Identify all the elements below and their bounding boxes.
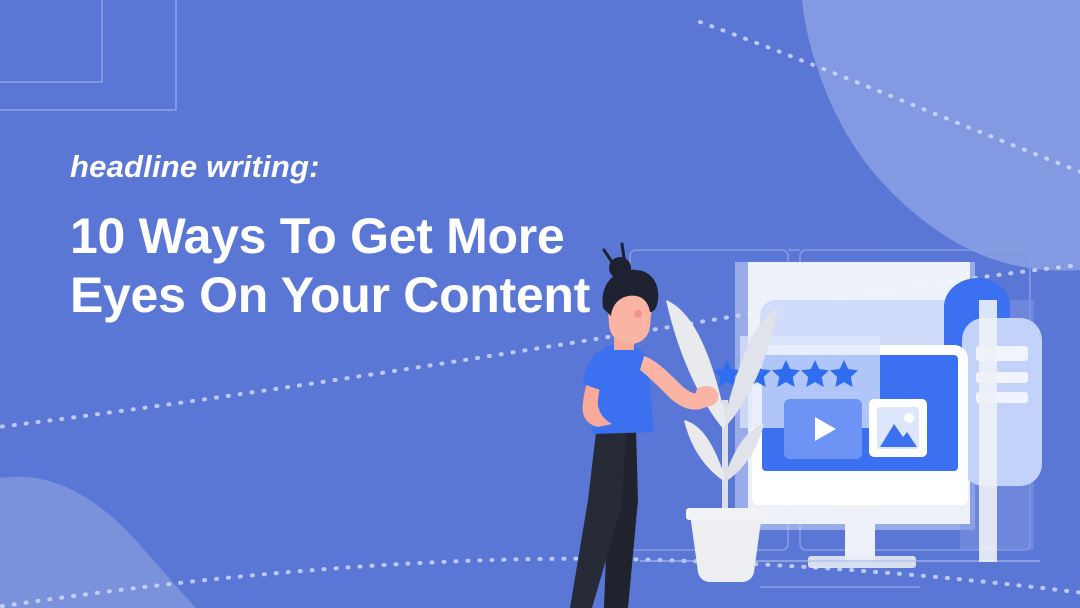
sun-icon <box>904 413 914 423</box>
strip-white-right <box>979 300 997 562</box>
stand-neck <box>845 500 875 562</box>
plant-pot <box>690 514 762 582</box>
monitor-chin <box>752 471 968 505</box>
person-ear <box>634 310 642 318</box>
headline-line-2: Eyes On Your Content <box>70 266 630 325</box>
video-card <box>784 399 862 459</box>
headline-line-1: 10 Ways To Get More <box>70 207 630 266</box>
desk-line-2 <box>760 586 920 588</box>
plant-leaf-left-mid <box>684 420 725 482</box>
headline-text-block: headline writing: 10 Ways To Get More Ey… <box>70 148 630 325</box>
image-placeholder-card <box>869 399 927 457</box>
eyebrow-text: headline writing: <box>70 148 630 185</box>
page-title: 10 Ways To Get More Eyes On Your Content <box>70 207 630 325</box>
plant-leaf-left-top <box>666 300 726 430</box>
side-document-card <box>962 318 1042 486</box>
plant-pot-rim <box>686 508 766 520</box>
headline-banner: headline writing: 10 Ways To Get More Ey… <box>0 0 1080 608</box>
